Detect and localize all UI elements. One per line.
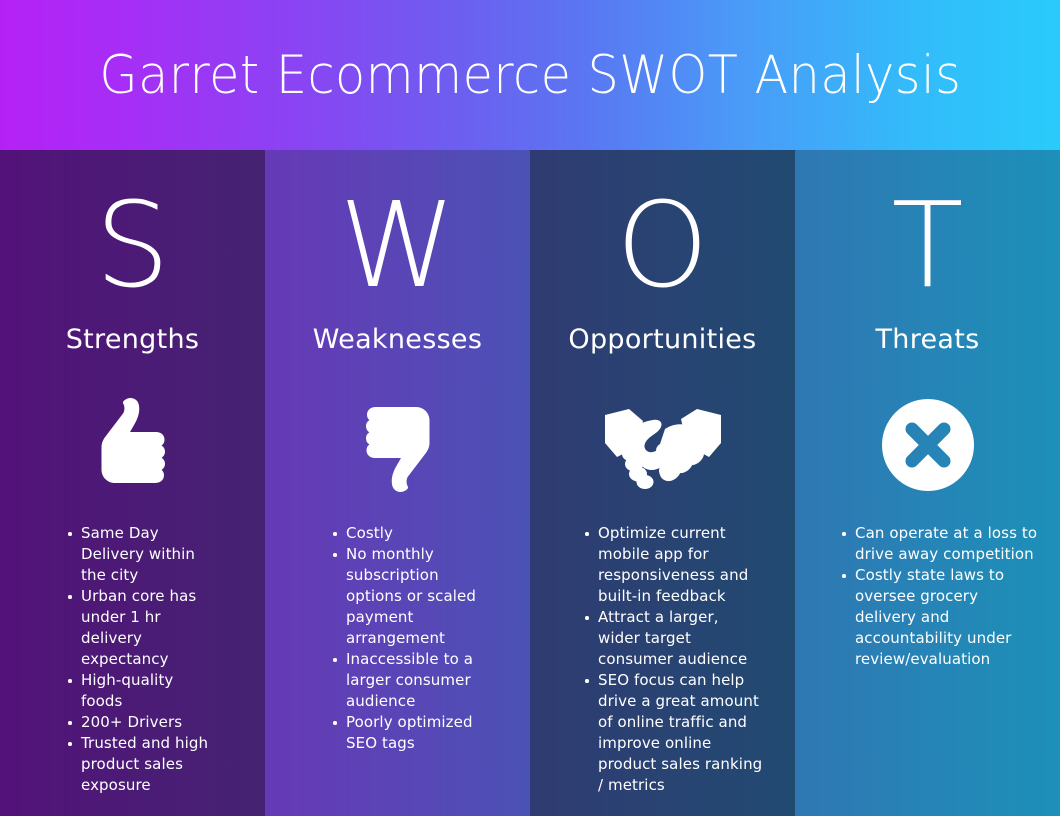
- list-item: Costly state laws to oversee grocery del…: [840, 565, 1040, 670]
- handshake-icon: [603, 393, 723, 497]
- list-item: High-quality foods: [66, 670, 217, 712]
- letter-badge-o: O: [616, 186, 709, 304]
- swot-column-strengths: S Strengths Same Day Delivery within the…: [0, 150, 265, 816]
- list-item: No monthly subscription options or scale…: [331, 544, 482, 649]
- swot-column-opportunities: O Opportunities: [530, 150, 795, 816]
- list-item: 200+ Drivers: [66, 712, 217, 733]
- page-title: Garret Ecommerce SWOT Analysis: [99, 49, 961, 102]
- list-item: SEO focus can help drive a great amount …: [583, 670, 763, 796]
- list-item: Costly: [331, 523, 482, 544]
- list-item: Same Day Delivery within the city: [66, 523, 217, 586]
- bullet-list-threats: Can operate at a loss to drive away comp…: [795, 523, 1060, 670]
- bullet-list-strengths: Same Day Delivery within the city Urban …: [0, 523, 265, 796]
- swot-columns: S Strengths Same Day Delivery within the…: [0, 150, 1060, 816]
- bullet-list-opportunities: Optimize current mobile app for responsi…: [530, 523, 795, 796]
- swot-poster: Garret Ecommerce SWOT Analysis S Strengt…: [0, 0, 1060, 816]
- swot-column-weaknesses: W Weaknesses Costly No monthly subscript…: [265, 150, 530, 816]
- list-item: Poorly optimized SEO tags: [331, 712, 482, 754]
- bullet-list-weaknesses: Costly No monthly subscription options o…: [265, 523, 530, 754]
- letter-badge-s: S: [95, 186, 170, 304]
- poster-header: Garret Ecommerce SWOT Analysis: [0, 0, 1060, 150]
- list-item: Inaccessible to a larger consumer audien…: [331, 649, 482, 712]
- thumbs-down-icon: [338, 393, 458, 497]
- column-title-strengths: Strengths: [66, 326, 200, 353]
- swot-column-threats: T Threats: [795, 150, 1060, 816]
- list-item: Optimize current mobile app for responsi…: [583, 523, 763, 607]
- column-title-opportunities: Opportunities: [568, 326, 756, 353]
- letter-badge-t: T: [891, 186, 963, 304]
- list-item: Trusted and high product sales exposure: [66, 733, 217, 796]
- letter-badge-w: W: [339, 186, 456, 304]
- column-title-weaknesses: Weaknesses: [313, 326, 482, 353]
- list-item: Can operate at a loss to drive away comp…: [840, 523, 1040, 565]
- column-title-threats: Threats: [875, 326, 979, 353]
- circle-x-icon: [868, 393, 988, 497]
- thumbs-up-icon: [73, 393, 193, 497]
- list-item: Urban core has under 1 hr delivery expec…: [66, 586, 217, 670]
- list-item: Attract a larger, wider target consumer …: [583, 607, 763, 670]
